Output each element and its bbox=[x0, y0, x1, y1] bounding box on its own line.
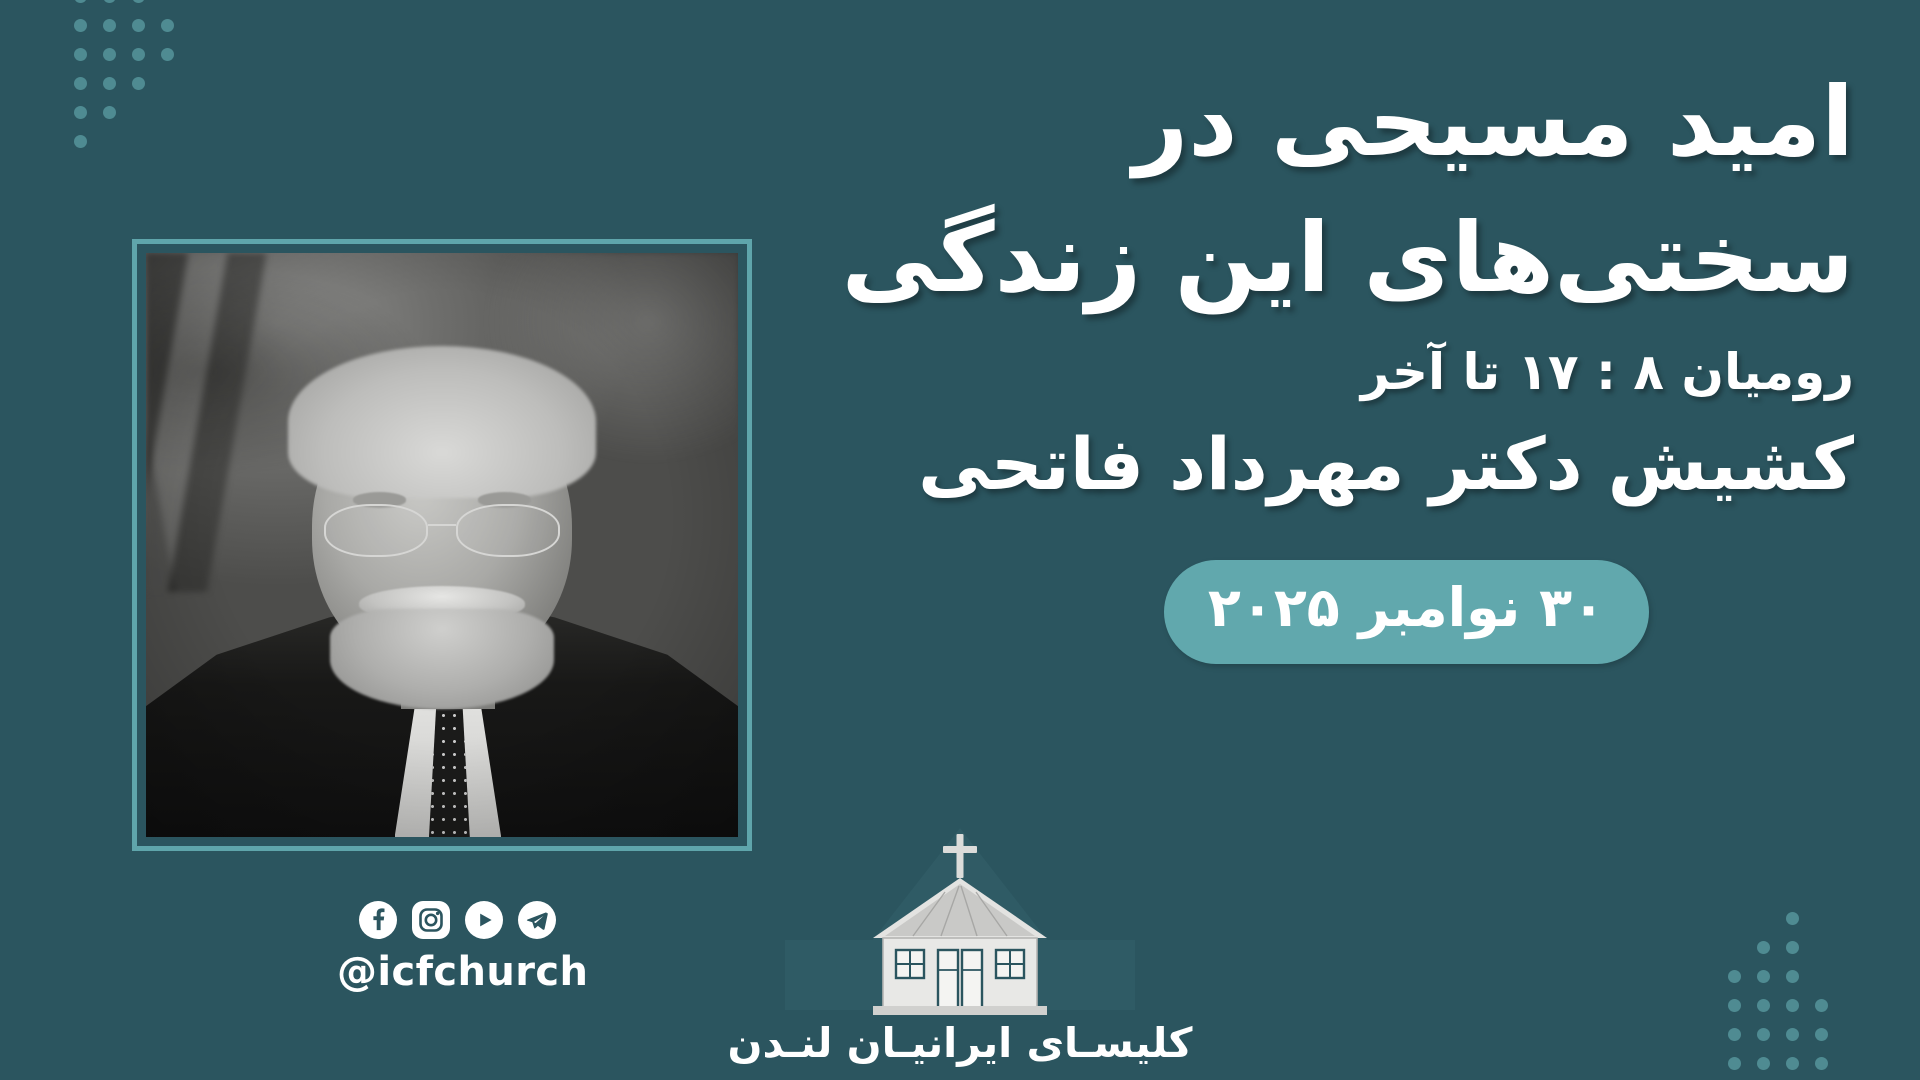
event-title-line-1: امید مسیحی در bbox=[764, 54, 1854, 190]
dot-grid-decoration-top-left bbox=[74, 0, 219, 164]
speaker-portrait-frame bbox=[132, 239, 752, 851]
portrait-vignette bbox=[146, 253, 738, 837]
youtube-icon[interactable] bbox=[464, 900, 504, 940]
social-icons-row bbox=[337, 900, 577, 940]
social-handle[interactable]: @icfchurch bbox=[337, 949, 577, 995]
event-title: امید مسیحی در سختی‌های این زندگی bbox=[764, 54, 1854, 327]
speaker-name: کشیش دکتر مهرداد فاتحی bbox=[764, 412, 1854, 516]
poster-content: امید مسیحی در سختی‌های این زندگی رومیان … bbox=[764, 54, 1854, 664]
event-title-line-2: سختی‌های این زندگی bbox=[764, 190, 1854, 326]
event-date-badge: ۳۰ نوامبر ۲۰۲۵ bbox=[1164, 560, 1649, 664]
telegram-icon[interactable] bbox=[517, 900, 557, 940]
scripture-reference: رومیان ۸ : ۱۷ تا آخر bbox=[764, 335, 1854, 410]
church-name: کلیسـای ایرانیـان لنـدن bbox=[725, 1019, 1195, 1067]
event-poster: امید مسیحی در سختی‌های این زندگی رومیان … bbox=[0, 0, 1920, 1080]
facebook-icon[interactable] bbox=[358, 900, 398, 940]
church-building-icon bbox=[745, 820, 1175, 1015]
date-badge-container: ۳۰ نوامبر ۲۰۲۵ bbox=[764, 560, 1854, 664]
instagram-icon[interactable] bbox=[411, 900, 451, 940]
speaker-portrait-photo bbox=[146, 253, 738, 837]
social-block: @icfchurch bbox=[337, 900, 577, 995]
dot-grid-decoration-bottom-right bbox=[1728, 912, 1844, 1080]
church-block: کلیسـای ایرانیـان لنـدن bbox=[725, 820, 1195, 1080]
